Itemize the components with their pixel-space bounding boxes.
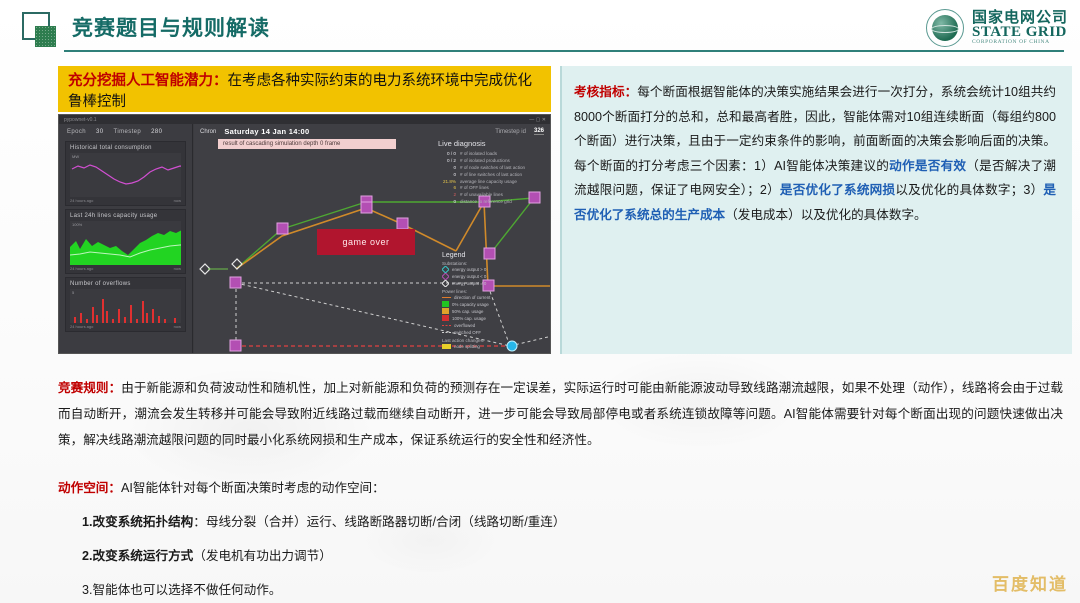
foot-right: now [174,266,181,271]
legend-item: 100% cap. usage [442,315,546,322]
foot-left: 24 hours ago [70,324,93,329]
diagnosis-row: 0# of node switches of last action [438,165,546,172]
diag-value: 0 [438,172,456,179]
diagnosis-row: 0 / 0# of isolated loads [438,151,546,158]
legend-label: node splitting [454,343,480,350]
node-splitting-icon [442,344,451,349]
legend-label: energy output = 0 [452,280,486,287]
action-item-2-num: 2. [82,549,93,563]
chart-card-capacity: Last 24h lines capacity usage 100% 24 ho… [65,209,186,274]
legend-label: energy output > 0 [452,266,486,273]
legend-label: switched OFF [454,329,481,336]
rules-body: 由于新能源和负荷波动性和随机性，加上对新能源和负荷的预测存在一定误差，实际运行时… [58,381,1063,447]
timestep-value: 280 [151,129,162,135]
diag-label: distance to reference grid [460,199,512,206]
action-space-label: 动作空间： [58,481,121,495]
diag-label: # of isolated loads [460,151,497,158]
legend-label: direction of current [454,294,490,301]
legend-title: Legend [442,252,546,259]
legend-label: 50% cap. usage [452,308,484,315]
diagnosis-row: 0 / 2# of isolated productions [438,158,546,165]
foot-right: now [174,198,181,203]
banner-highlight: 充分挖掘人工智能潜力： [68,73,228,89]
criteria-seg4: （发电成本）以及优化的具体数字。 [725,208,927,222]
chart-card-overflows: Number of overflows 5 [65,277,186,332]
action-item-2-rest: （发电机有功出力调节） [193,549,332,563]
diag-label: # of line switches of last action [460,172,522,179]
legend-item: energy output > 0 [442,266,546,273]
diagnosis-row: 2# of unavailable lines [438,192,546,199]
screenshot-right-pane: Chron Saturday 14 Jan 14:00 Timestep id … [194,124,550,353]
legend-label: 0% capacity usage [452,301,489,308]
diag-label: # of unavailable lines [460,192,503,199]
criteria-highlight-1: 动作是否有效 [889,159,966,173]
legend-item: energy output < 0 [442,273,546,280]
chart-foot-capacity: 24 hours ago now [70,265,181,271]
consumption-line-svg [70,153,181,197]
chart-axis-capacity: 100% [72,222,82,227]
topic-banner: 充分挖掘人工智能潜力：在考虑各种实际约束的电力系统环境中完成优化鲁棒控制 [58,66,551,112]
gradient-green-icon [442,301,449,307]
chart-title-overflows: Number of overflows [70,281,181,287]
chart-title-consumption: Historical total consumption [70,145,181,151]
legend-item: 50% cap. usage [442,308,546,315]
screenshot-app-title: pypownet-v0.1 [59,117,97,123]
legend-item: 0% capacity usage [442,301,546,308]
action-item-3-rest: 智能体也可以选择不做任何动作。 [93,583,282,597]
legend-item: energy output = 0 [442,280,546,287]
evaluation-criteria-panel: 考核指标：每个断面根据智能体的决策实施结果会进行一次打分，系统会统计10组共约8… [560,66,1072,354]
chart-plot-consumption: MW [70,153,181,197]
diag-value: 0 [438,199,456,206]
foot-right: now [174,324,181,329]
legend-label: 100% cap. usage [452,315,486,322]
diag-label: # of isolated productions [460,158,510,165]
header-divider [64,50,1064,52]
diamond-white-icon [442,280,449,287]
pypownet-screenshot: pypownet-v0.1 — ▢ ✕ Epoch 30 Timestep 28… [58,114,551,354]
diag-label: # of OFF lines [460,185,489,192]
window-controls: — ▢ ✕ [529,117,546,123]
criteria-highlight-2: 是否优化了系统网损 [780,183,895,197]
legend-label: energy output < 0 [452,273,486,280]
chart-title-capacity: Last 24h lines capacity usage [70,213,181,219]
rules-label: 竞赛规则： [58,381,121,395]
legend-item: overflowed [442,322,546,329]
action-space-intro: AI智能体针对每个断面决策时考虑的动作空间： [121,481,385,495]
criteria-label: 考核指标： [574,85,637,99]
action-space-section: 动作空间：AI智能体针对每个断面决策时考虑的动作空间： 1.改变系统拓扑结构：母… [58,478,1063,601]
game-over-badge: game over [317,229,415,255]
screenshot-left-pane: Epoch 30 Timestep 280 Historical total c… [59,124,193,353]
timestep-label: Timestep [114,129,142,135]
diagnosis-row: 0# of line switches of last action [438,172,546,179]
diag-value: 21.8% [438,179,456,186]
arrow-current-icon [442,295,451,300]
action-item-1: 1.改变系统拓扑结构：母线分裂（合并）运行、线路断路器切断/合闭（线路切断/重连… [58,512,1063,532]
timestep-id-label: Timestep id [495,129,526,135]
legend-item: switched OFF [442,329,546,336]
action-item-2-bold: 改变系统运行方式 [93,549,194,563]
chart-axis-overflows: 5 [72,290,74,295]
chart-axis-consumption: MW [72,154,79,159]
epoch-label: Epoch [67,129,86,135]
chart-plot-capacity: 100% [70,221,181,265]
action-item-1-num: 1. [82,515,93,529]
capacity-area-svg [70,221,181,265]
foot-left: 24 hours ago [70,198,93,203]
action-item-3: 3.智能体也可以选择不做任何动作。 [58,580,1063,600]
diamond-teal-icon [442,266,449,273]
action-space-heading-row: 动作空间：AI智能体针对每个断面决策时考虑的动作空间： [58,478,1063,498]
logo-cn-text: 国家电网公司 [972,10,1068,25]
chart-foot-overflows: 24 hours ago now [70,323,181,329]
legend-item: node splitting [442,343,546,350]
diagnosis-row: 6# of OFF lines [438,185,546,192]
logo-sub-text: CORPORATION OF CHINA [972,40,1068,46]
criteria-seg3: 以及优化的具体数字；3） [895,183,1043,197]
diag-value: 6 [438,185,456,192]
baidu-watermark: 百度知道 [992,570,1068,595]
foot-left: 24 hours ago [70,266,93,271]
timestep-id-value: 326 [534,128,544,135]
action-item-1-rest: ：母线分裂（合并）运行、线路断路器切断/合闭（线路切断/重连） [193,515,565,529]
action-item-1-bold: 改变系统拓扑结构 [93,515,194,529]
live-diagnosis-title: Live diagnosis [438,139,546,148]
chart-foot-consumption: 24 hours ago now [70,197,181,203]
slide-header: 竞赛题目与规则解读 国家电网公司 STATE GRID CORPORATION … [0,0,1080,58]
chart-card-consumption: Historical total consumption MW 24 hours… [65,141,186,206]
gradient-red-icon [442,315,449,321]
gradient-orange-icon [442,308,449,314]
state-grid-logo: 国家电网公司 STATE GRID CORPORATION OF CHINA [925,6,1068,50]
action-item-2: 2.改变系统运行方式（发电机有功出力调节） [58,546,1063,566]
action-item-3-num: 3. [82,583,93,597]
logo-en-text: STATE GRID [972,25,1068,40]
diagnosis-row: 0distance to reference grid [438,199,546,206]
live-diagnosis-panel: Live diagnosis 0 / 0# of isolated loads … [438,139,546,206]
diag-value: 0 / 2 [438,158,456,165]
competition-rules-paragraph: 竞赛规则：由于新能源和负荷波动性和随机性，加上对新能源和负荷的预测存在一定误差，… [58,376,1063,453]
diag-value: 0 / 0 [438,151,456,158]
sim-date: Saturday 14 Jan 14:00 [224,127,309,136]
screenshot-titlebar: pypownet-v0.1 — ▢ ✕ [59,115,550,124]
globe-icon [925,8,965,48]
switched-off-dash-icon [442,330,451,335]
epoch-value: 30 [96,129,103,135]
diag-value: 2 [438,192,456,199]
overflow-bars-svg [70,289,181,323]
decorative-square-logo-icon [22,12,60,48]
legend-label: overflowed [454,322,475,329]
page-title: 竞赛题目与规则解读 [72,12,270,42]
overflow-dash-icon [442,323,451,328]
diamond-purple-icon [442,273,449,280]
chron-label: Chron [200,129,216,135]
diag-label: # of node switches of last action [460,165,525,172]
diag-label: average line capacity usage [460,179,517,186]
epoch-timestep-row: Epoch 30 Timestep 280 [59,124,192,138]
legend-item: direction of current [442,294,546,301]
diag-value: 0 [438,165,456,172]
legend-panel: Legend Substations: energy output > 0 en… [442,252,546,350]
chart-plot-overflows: 5 [70,289,181,323]
diagnosis-row: 21.8%average line capacity usage [438,179,546,186]
screenshot-date-row: Chron Saturday 14 Jan 14:00 Timestep id … [194,124,550,136]
